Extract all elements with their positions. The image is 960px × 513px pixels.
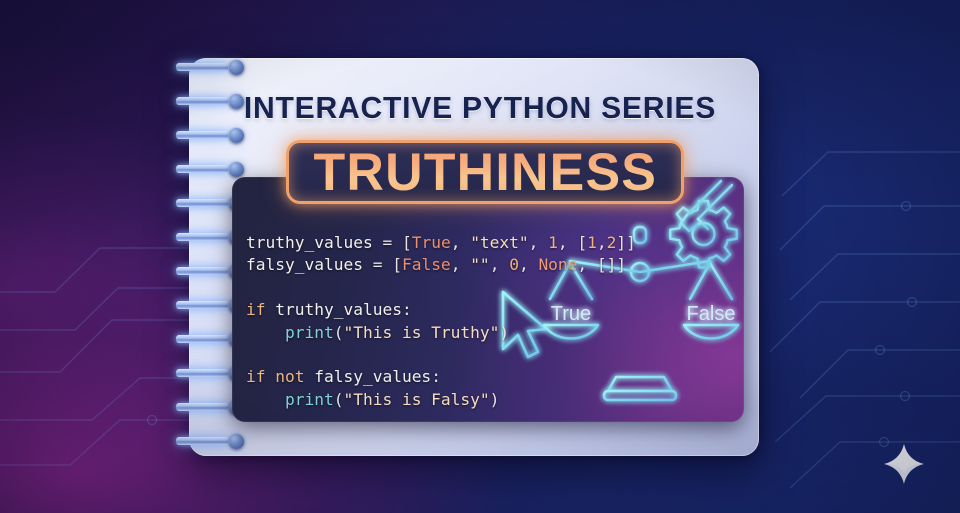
code-token-punc: = [373, 233, 402, 252]
code-token-bool: True [412, 233, 451, 252]
code-token-punc: [ [402, 233, 412, 252]
code-token-punc: , [558, 233, 578, 252]
code-token-punc: ) [499, 323, 509, 342]
code-token-bool: False [402, 255, 451, 274]
code-line: falsy_values = [False, "", 0, None, []] [246, 254, 636, 276]
code-token-num: 2 [607, 233, 617, 252]
code-token-var: falsy_values [314, 367, 431, 386]
code-line: if truthy_values: [246, 299, 636, 321]
page-title-kicker: INTERACTIVE PYTHON SERIES [14, 90, 945, 126]
code-plain-text: truthy_values = [True, "text", 1, [1,2]]… [0, 0, 1, 1]
code-token-punc: , [597, 233, 607, 252]
code-line [246, 277, 636, 299]
code-line: if not falsy_values: [246, 366, 636, 388]
title-badge-label: TRUTHINESS [313, 146, 657, 199]
code-token-punc: ( [334, 390, 344, 409]
code-token-punc [246, 323, 285, 342]
code-token-fn: print [285, 323, 334, 342]
code-token-var: truthy_values [246, 233, 373, 252]
title-badge: TRUTHINESS [286, 140, 684, 204]
code-token-punc: , [451, 233, 471, 252]
code-token-punc: []] [597, 255, 626, 274]
code-token-num: 1 [548, 233, 558, 252]
code-token-punc [304, 367, 314, 386]
spiral-ring [176, 436, 244, 447]
code-token-punc: , [490, 255, 510, 274]
code-token-punc: , [577, 255, 597, 274]
slide-canvas: INTERACTIVE PYTHON SERIES [0, 0, 960, 513]
code-token-str: "This is Truthy" [343, 323, 499, 342]
code-token-punc: ]] [616, 233, 636, 252]
code-line: print("This is Falsy") [246, 389, 636, 411]
code-token-var: truthy_values [275, 300, 402, 319]
spiral-ring [176, 62, 244, 73]
code-token-punc: = [363, 255, 392, 274]
code-token-kw: if not [246, 367, 304, 386]
code-line [246, 344, 636, 366]
code-token-punc: , [451, 255, 471, 274]
sparkle-star-icon [881, 441, 927, 487]
code-token-punc: [ [392, 255, 402, 274]
code-token-var: falsy_values [246, 255, 363, 274]
code-token-num: 1 [587, 233, 597, 252]
code-token-punc: : [431, 367, 441, 386]
code-line: truthy_values = [True, "text", 1, [1,2]] [246, 232, 636, 254]
code-token-punc [266, 300, 276, 319]
code-token-fn: print [285, 390, 334, 409]
code-token-punc: , [529, 233, 549, 252]
code-token-str: "text" [470, 233, 528, 252]
code-line: print("This is Truthy") [246, 322, 636, 344]
code-token-none: None [538, 255, 577, 274]
code-token-kw: if [246, 300, 266, 319]
code-token-punc: ( [334, 323, 344, 342]
code-token-punc: : [402, 300, 412, 319]
code-token-punc: ) [490, 390, 500, 409]
code-token-str: "This is Falsy" [343, 390, 489, 409]
code-token-punc: [ [577, 233, 587, 252]
code-token-str: "" [470, 255, 490, 274]
code-token-num: 0 [509, 255, 519, 274]
spiral-ring [176, 130, 244, 141]
code-block: truthy_values = [True, "text", 1, [1,2]]… [246, 232, 636, 411]
spiral-ring [176, 164, 244, 175]
code-token-punc: , [519, 255, 539, 274]
code-token-punc [246, 390, 285, 409]
